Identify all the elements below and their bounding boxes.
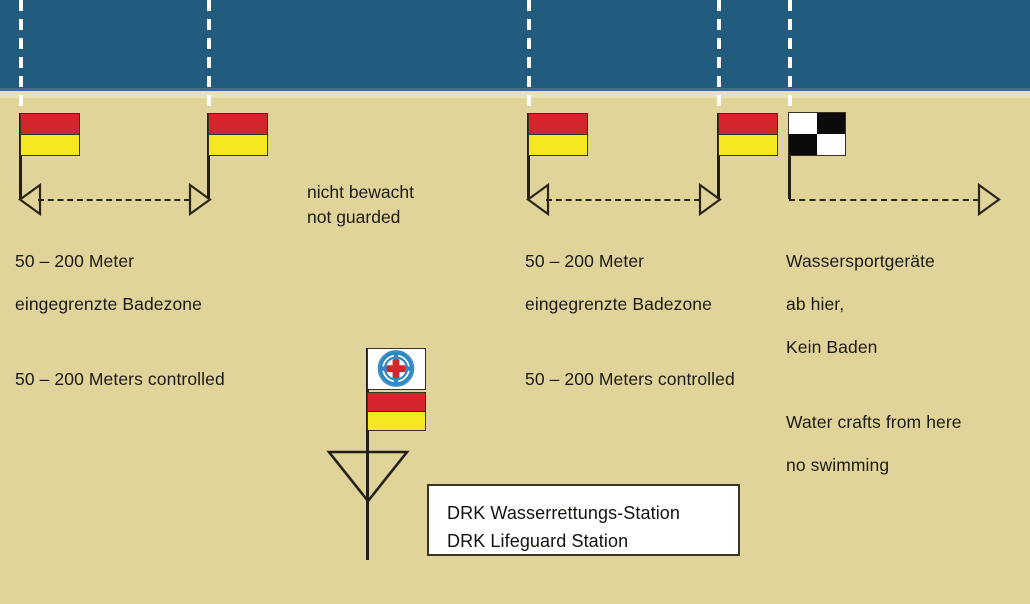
- yellow-band-icon: [718, 134, 778, 156]
- zone-right-caption: 50 – 200 Meter eingegrenzte Badezone 50 …: [525, 229, 735, 412]
- yellow-band-icon: [528, 134, 588, 156]
- caption-de-line-1: nicht bewacht: [307, 180, 414, 205]
- red-band-icon: [718, 113, 778, 135]
- zone-middle-caption: nicht bewacht not guarded: [307, 180, 414, 230]
- arrowhead-right-icon: [188, 183, 212, 217]
- yellow-band-icon: [20, 134, 80, 156]
- dashed-measure-line: [38, 199, 190, 201]
- caption-en-line-1: not guarded: [307, 205, 414, 230]
- arrowhead-left-icon: [18, 183, 42, 217]
- zone-left-caption: 50 – 200 Meter eingegrenzte Badezone 50 …: [15, 229, 225, 412]
- caption-en-line-1: 50 – 200 Meters controlled: [15, 369, 225, 391]
- caption-de-line-1: 50 – 200 Meter: [15, 251, 225, 273]
- red-band-icon: [208, 113, 268, 135]
- caption-spacer: [15, 337, 225, 348]
- station-yellow-band-icon: [367, 411, 426, 431]
- checker-flag-border: [788, 112, 846, 156]
- caption-de-line-3: Kein Baden: [786, 337, 962, 359]
- caption-de-line-2: ab hier,: [786, 294, 962, 316]
- boundary-line-4: [717, 0, 721, 118]
- drk-station-label-box: DRK Wasserrettungs-Station DRK Lifeguard…: [427, 484, 740, 556]
- caption-de-line-2: eingegrenzte Badezone: [15, 294, 225, 316]
- station-label-en: DRK Lifeguard Station: [447, 527, 738, 555]
- wet-sand-strip: [0, 91, 1030, 98]
- station-red-band-icon: [367, 392, 426, 412]
- yellow-band-icon: [208, 134, 268, 156]
- arrowhead-right-icon: [977, 183, 1001, 217]
- caption-spacer: [786, 380, 962, 391]
- dashed-measure-line: [789, 199, 979, 201]
- red-band-icon: [20, 113, 80, 135]
- station-label-de: DRK Wasserrettungs-Station: [447, 499, 738, 527]
- boundary-line-3: [527, 0, 531, 118]
- watercraft-caption: Wassersportgeräte ab hier, Kein Baden Wa…: [786, 229, 962, 498]
- boundary-line-2: [207, 0, 211, 118]
- caption-de-line-2: eingegrenzte Badezone: [525, 294, 735, 316]
- beach-signage-diagram: 50 – 200 Meter eingegrenzte Badezone 50 …: [0, 0, 1030, 604]
- caption-en-line-2: no swimming: [786, 455, 962, 477]
- caption-en-line-1: 50 – 200 Meters controlled: [525, 369, 735, 391]
- red-band-icon: [528, 113, 588, 135]
- arrowhead-right-icon: [698, 183, 722, 217]
- drk-lifering-redcross-icon: [368, 349, 424, 388]
- boundary-line-1: [19, 0, 23, 118]
- inverted-triangle-marker-icon: [326, 449, 410, 505]
- dashed-measure-line: [546, 199, 700, 201]
- caption-de-line-1: 50 – 200 Meter: [525, 251, 735, 273]
- arrowhead-left-icon: [526, 183, 550, 217]
- caption-en-line-1: Water crafts from here: [786, 412, 962, 434]
- water-region: [0, 0, 1030, 88]
- drk-sign: [367, 348, 426, 390]
- caption-de-line-1: Wassersportgeräte: [786, 251, 962, 273]
- caption-spacer: [525, 337, 735, 348]
- boundary-line-5: [788, 0, 792, 118]
